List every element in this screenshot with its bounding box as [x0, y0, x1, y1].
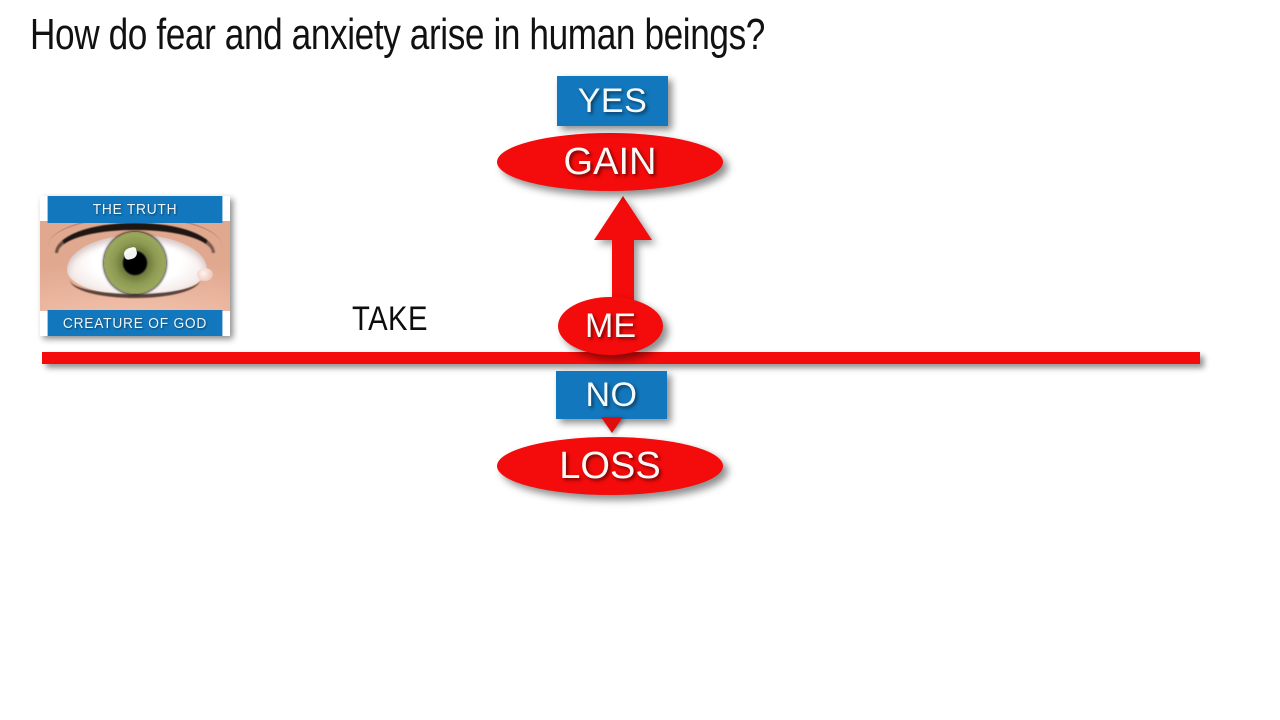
- no-box[interactable]: NO: [556, 371, 667, 419]
- me-to-gain-up-arrow: [594, 196, 652, 308]
- slide-canvas: How do fear and anxiety arise in human b…: [0, 0, 1280, 720]
- truth-card-footer-label: CREATURE OF GOD: [48, 310, 223, 336]
- yes-box[interactable]: YES: [557, 76, 668, 126]
- gain-ellipse[interactable]: GAIN: [497, 133, 723, 191]
- me-ellipse[interactable]: ME: [558, 297, 663, 355]
- loss-ellipse[interactable]: LOSS: [497, 437, 723, 495]
- take-label: TAKE: [352, 300, 428, 339]
- human-eye-photo: [40, 221, 230, 311]
- truth-card-header-label: THE TRUTH: [48, 196, 223, 223]
- eye-tear-duct: [197, 268, 213, 281]
- truth-card: THE TRUTH CREATURE OF GOD: [40, 196, 230, 336]
- no-to-loss-arrowhead: [601, 417, 623, 433]
- page-title: How do fear and anxiety arise in human b…: [30, 10, 765, 60]
